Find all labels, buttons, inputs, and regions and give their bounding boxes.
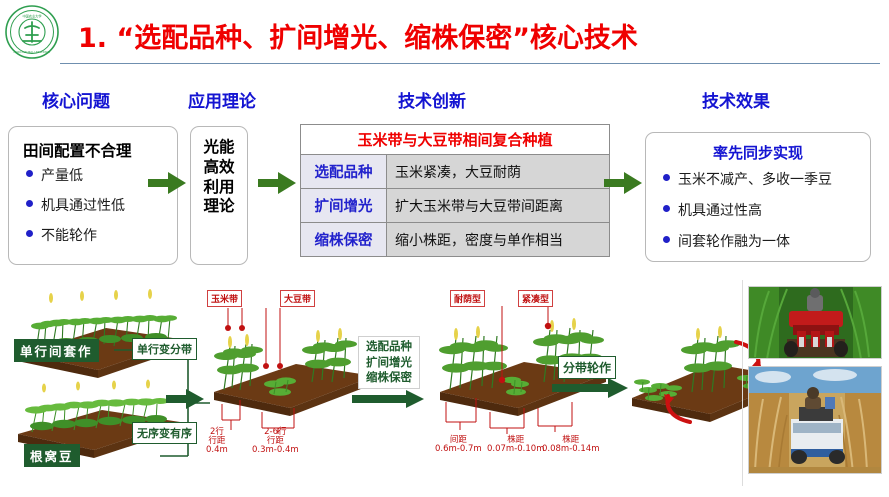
callout-corn-band: 玉米带 <box>207 290 242 307</box>
callout-compact-type: 紧凑型 <box>518 290 553 307</box>
table-cell-value: 玉米紧凑，大豆耐荫 <box>387 155 610 189</box>
svg-text:AGRICULTURAL UNIVERSITY: AGRICULTURAL UNIVERSITY <box>13 50 50 54</box>
table-cell-value: 缩小株距，密度与单作相当 <box>387 223 610 257</box>
tech-table-title: 玉米带与大豆带相间复合种植 <box>301 125 610 155</box>
arrow-right-icon <box>552 378 628 403</box>
stage4-label-strip-rotation: 分带轮作 <box>558 356 616 379</box>
harvester-in-dry-field-photo <box>748 366 882 474</box>
stage2-plot-illustration <box>200 308 380 438</box>
callout-soy-band: 大豆带 <box>280 290 315 307</box>
middle-instruction-box: 选配品种 扩间增光 缩株保密 <box>358 336 420 389</box>
table-cell-key: 缩株保密 <box>301 223 387 257</box>
theory-line: 利用 <box>191 178 247 198</box>
list-item: 机具通过性高 <box>662 200 832 220</box>
column-header-core-problem: 核心问题 <box>42 87 110 112</box>
dimension-soy-rows: 2-6行 行距 0.3m-0.4m <box>252 428 299 455</box>
dimension-band-spacing: 间距 0.6m-0.7m <box>435 436 482 454</box>
applied-theory-text: 光能 高效 利用 理论 <box>191 138 247 217</box>
instruction-line: 扩间增光 <box>359 355 419 371</box>
list-item: 机具通过性低 <box>25 195 125 215</box>
table-row: 选配品种 玉米紧凑，大豆耐荫 <box>301 155 610 189</box>
table-cell-value: 扩大玉米带与大豆带间距离 <box>387 189 610 223</box>
tech-effect-bullets: 玉米不减产、多收一季豆 机具通过性高 间套轮作融为一体 <box>662 169 832 262</box>
tech-innovation-table: 玉米带与大豆带相间复合种植 选配品种 玉米紧凑，大豆耐荫 扩间增光 扩大玉米带与… <box>300 124 610 257</box>
photo-divider <box>742 280 743 486</box>
callout-shade-tolerant-type: 耐荫型 <box>450 290 485 307</box>
process-diagram: 单行间套作 根窝豆 单行变分带 无序变有序 <box>0 278 889 497</box>
list-item: 玉米不减产、多收一季豆 <box>662 169 832 189</box>
arrow-right-icon <box>148 172 186 199</box>
list-item: 产量低 <box>25 165 125 185</box>
theory-line: 理论 <box>191 197 247 217</box>
list-item: 不能轮作 <box>25 225 125 245</box>
column-header-tech-effect: 技术效果 <box>702 87 770 112</box>
theory-line: 光能 <box>191 138 247 158</box>
page-title: 1. “选配品种、扩间增光、缩株保密”核心技术 <box>78 16 778 55</box>
transition-label-disorder-to-order: 无序变有序 <box>132 422 197 444</box>
tech-effect-card: 率先同步实现 玉米不减产、多收一季豆 机具通过性高 间套轮作融为一体 <box>645 132 871 262</box>
arrow-right-icon <box>604 172 642 199</box>
table-cell-key: 扩间增光 <box>301 189 387 223</box>
seeder-in-green-corn-photo <box>748 286 882 359</box>
instruction-line: 缩株保密 <box>359 370 419 386</box>
table-row: 扩间增光 扩大玉米带与大豆带间距离 <box>301 189 610 223</box>
dimension-corn-rows: 2行 行距 0.4m <box>206 428 228 455</box>
table-header-row: 玉米带与大豆带相间复合种植 <box>301 125 610 155</box>
list-item: 间套轮作融为一体 <box>662 231 832 251</box>
tech-effect-title: 率先同步实现 <box>646 142 870 163</box>
arrow-right-icon <box>258 172 296 199</box>
column-header-applied-theory: 应用理论 <box>188 87 256 112</box>
arrow-right-icon <box>166 389 204 414</box>
svg-text:中国农业大学: 中国农业大学 <box>22 14 41 19</box>
instruction-line: 选配品种 <box>359 339 419 355</box>
dimension-plant-spacing-corn: 株距 0.08m-0.14m <box>542 436 599 454</box>
core-problem-title: 田间配置不合理 <box>23 139 132 161</box>
table-row: 缩株保密 缩小株距，密度与单作相当 <box>301 223 610 257</box>
dimension-plant-spacing-soy: 株距 0.07m-0.10m <box>487 436 544 454</box>
arrow-right-icon <box>352 390 424 413</box>
column-header-tech-innovation: 技术创新 <box>398 87 466 112</box>
slide-canvas: 中国农业大学 AGRICULTURAL UNIVERSITY 1. “选配品种、… <box>0 0 889 497</box>
title-divider <box>60 63 880 64</box>
plot-label-single-row-intercrop: 单行间套作 <box>14 339 99 362</box>
table-cell-key: 选配品种 <box>301 155 387 189</box>
applied-theory-card: 光能 高效 利用 理论 <box>190 126 248 265</box>
university-seal-icon: 中国农业大学 AGRICULTURAL UNIVERSITY <box>4 4 60 60</box>
theory-line: 高效 <box>191 158 247 178</box>
core-problem-bullets: 产量低 机具通过性低 不能轮作 <box>25 165 125 255</box>
transition-label-single-row-to-strip: 单行变分带 <box>132 338 197 360</box>
plot-label-root-nest-bean: 根窝豆 <box>24 444 80 467</box>
